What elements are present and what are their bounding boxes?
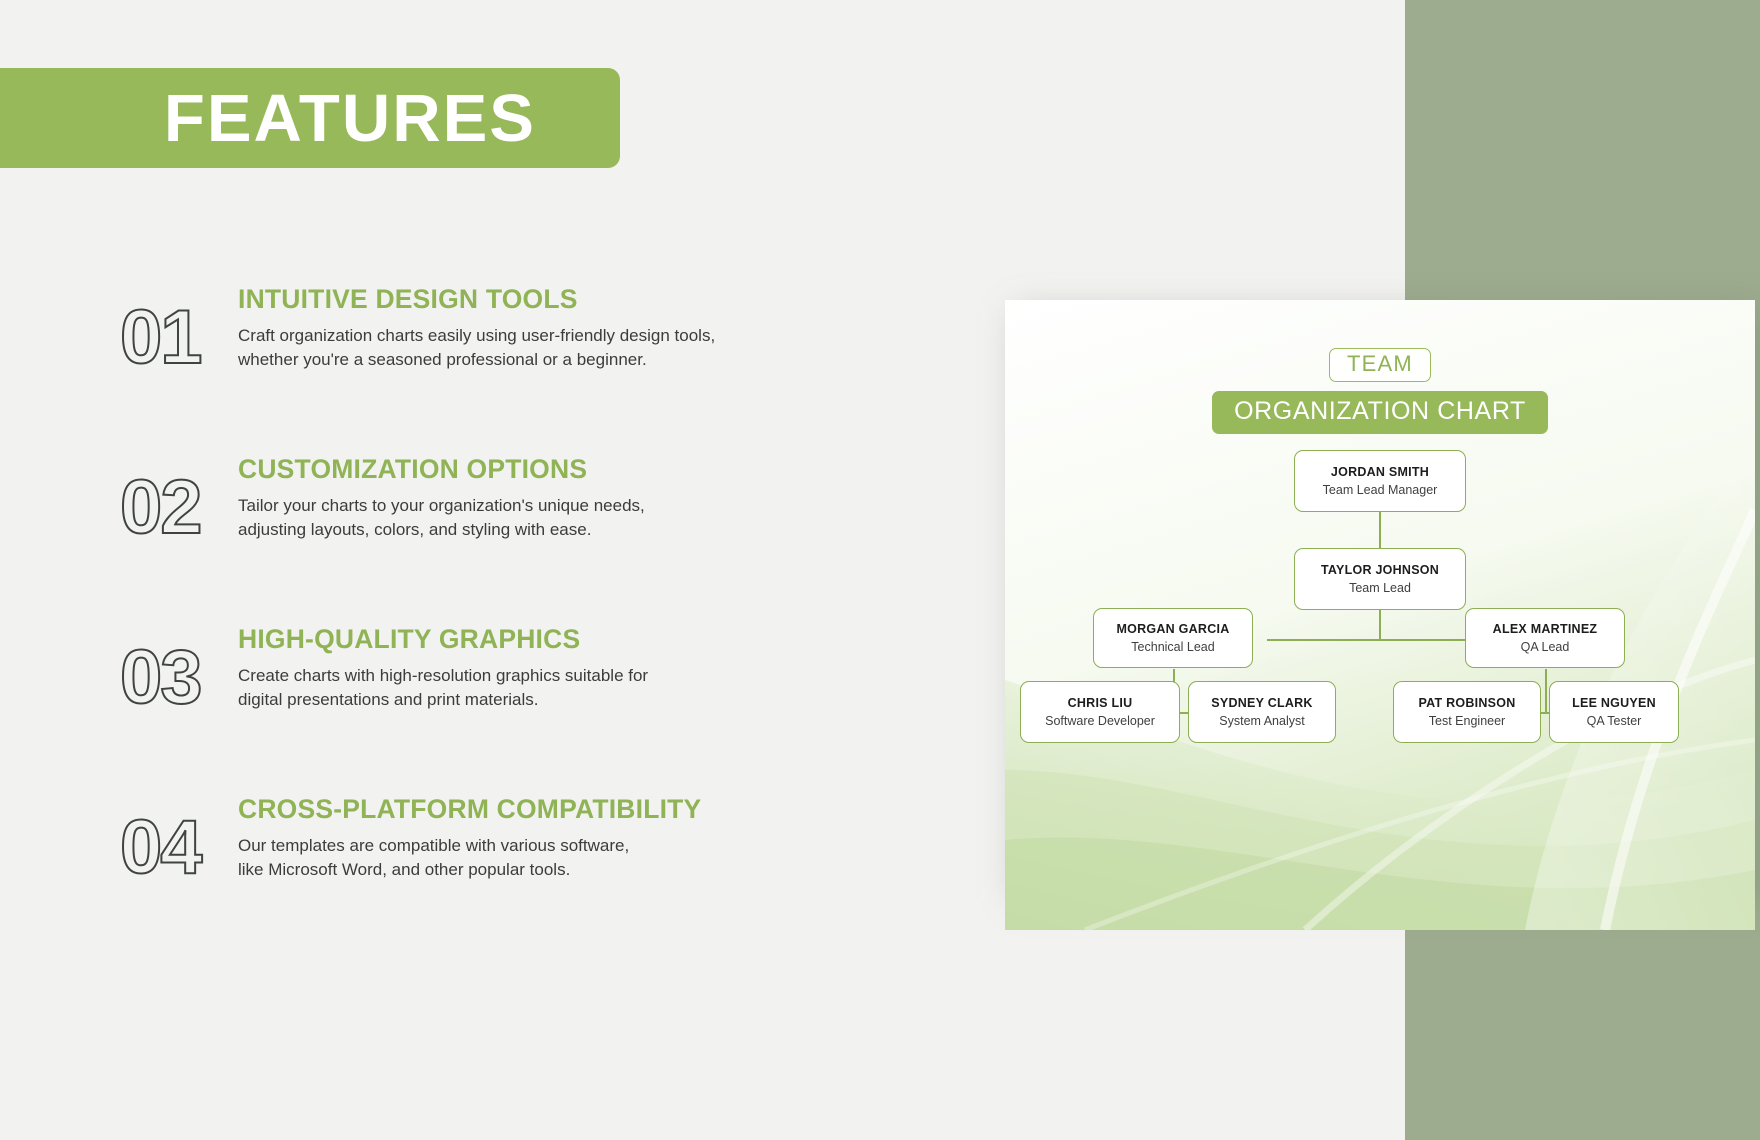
org-node[interactable]: LEE NGUYEN QA Tester [1549,681,1679,743]
org-node[interactable]: MORGAN GARCIA Technical Lead [1093,608,1253,668]
org-node-role: Software Developer [1045,714,1155,728]
page-title: FEATURES [164,85,536,152]
feature-description-line: digital presentations and print material… [238,688,648,712]
org-node[interactable]: PAT ROBINSON Test Engineer [1393,681,1541,743]
org-node-name: JORDAN SMITH [1331,465,1429,479]
feature-item-02: 02 CUSTOMIZATION OPTIONS Tailor your cha… [120,450,880,558]
feature-description-line: Create charts with high-resolution graph… [238,664,648,688]
feature-number: 04 [120,790,238,888]
feature-body: INTUITIVE DESIGN TOOLS Craft organizatio… [238,280,715,372]
feature-description-line: Our templates are compatible with variou… [238,834,701,858]
feature-description-line: Craft organization charts easily using u… [238,324,715,348]
org-node-name: CHRIS LIU [1068,696,1133,710]
org-node[interactable]: ALEX MARTINEZ QA Lead [1465,608,1625,668]
feature-body: CUSTOMIZATION OPTIONS Tailor your charts… [238,450,645,542]
feature-body: HIGH-QUALITY GRAPHICS Create charts with… [238,620,648,712]
feature-item-01: 01 INTUITIVE DESIGN TOOLS Craft organiza… [120,280,880,388]
feature-heading: INTUITIVE DESIGN TOOLS [238,284,715,315]
connector-l3-horizontal [1267,639,1495,641]
features-header-banner: FEATURES [0,68,620,168]
org-chart-card: TEAM ORGANIZATION CHART JORDAN SMITH Tea… [1005,300,1755,930]
feature-item-03: 03 HIGH-QUALITY GRAPHICS Create charts w… [120,620,880,728]
org-node-name: PAT ROBINSON [1419,696,1516,710]
feature-number: 01 [120,280,238,378]
org-node-role: Team Lead [1349,581,1411,595]
org-node-role: System Analyst [1219,714,1304,728]
org-node-role: Test Engineer [1429,714,1505,728]
org-node-role: QA Tester [1587,714,1642,728]
feature-number: 02 [120,450,238,548]
team-badge: TEAM [1329,348,1431,382]
org-node[interactable]: JORDAN SMITH Team Lead Manager [1294,450,1466,512]
connector-l1-l2 [1379,512,1381,548]
org-node-name: SYDNEY CLARK [1211,696,1312,710]
org-node-role: QA Lead [1521,640,1570,654]
org-node-name: ALEX MARTINEZ [1493,622,1598,636]
org-node-name: MORGAN GARCIA [1117,622,1230,636]
feature-description: Tailor your charts to your organization'… [238,494,645,542]
feature-heading: CROSS-PLATFORM COMPATIBILITY [238,794,701,825]
connector-alex-down [1545,669,1547,713]
chart-title: ORGANIZATION CHART [1212,391,1548,434]
org-node[interactable]: SYDNEY CLARK System Analyst [1188,681,1336,743]
feature-description: Craft organization charts easily using u… [238,324,715,372]
features-list: 01 INTUITIVE DESIGN TOOLS Craft organiza… [120,280,880,898]
org-node-name: LEE NGUYEN [1572,696,1656,710]
feature-item-04: 04 CROSS-PLATFORM COMPATIBILITY Our temp… [120,790,880,898]
feature-description: Our templates are compatible with variou… [238,834,701,882]
feature-heading: HIGH-QUALITY GRAPHICS [238,624,648,655]
feature-description-line: like Microsoft Word, and other popular t… [238,858,701,882]
feature-description-line: whether you're a seasoned professional o… [238,348,715,372]
org-node-name: TAYLOR JOHNSON [1321,563,1439,577]
chart-title-group: TEAM ORGANIZATION CHART [1005,300,1755,434]
org-node[interactable]: CHRIS LIU Software Developer [1020,681,1180,743]
org-node[interactable]: TAYLOR JOHNSON Team Lead [1294,548,1466,610]
org-node-role: Team Lead Manager [1323,483,1438,497]
feature-description-line: adjusting layouts, colors, and styling w… [238,518,645,542]
feature-heading: CUSTOMIZATION OPTIONS [238,454,645,485]
org-node-role: Technical Lead [1131,640,1214,654]
feature-description: Create charts with high-resolution graph… [238,664,648,712]
feature-description-line: Tailor your charts to your organization'… [238,494,645,518]
feature-body: CROSS-PLATFORM COMPATIBILITY Our templat… [238,790,701,882]
feature-number: 03 [120,620,238,718]
